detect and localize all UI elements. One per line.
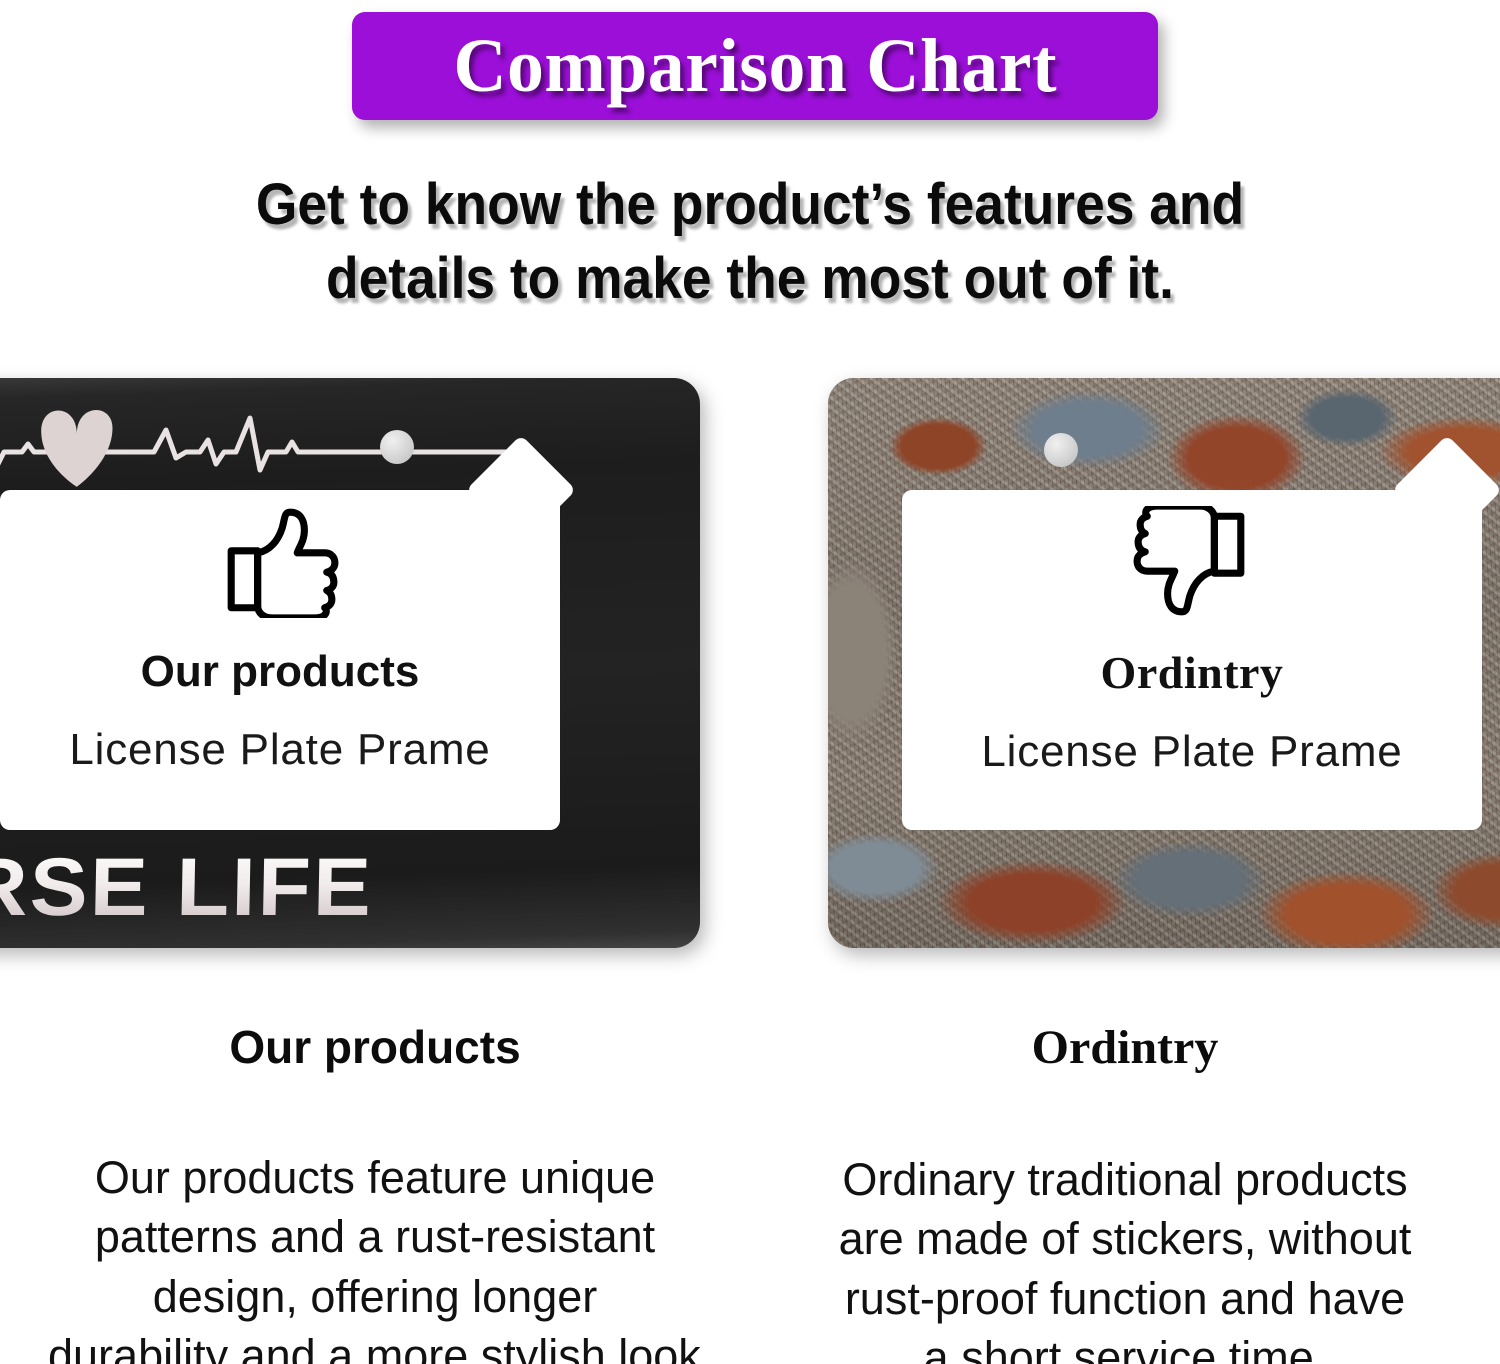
summary-line: a short service time.	[798, 1328, 1452, 1364]
summary-line: patterns and a rust-resistant	[48, 1207, 702, 1266]
summary-column-ordintry: Ordintry Ordinary traditional products a…	[750, 1024, 1500, 1364]
mounting-screw-hole	[380, 430, 414, 464]
summary-line: durability and a more stylish look.	[48, 1326, 702, 1364]
comparison-summary-section: Our products Our products feature unique…	[0, 1024, 1500, 1364]
summary-line: Ordinary traditional products	[798, 1150, 1452, 1209]
our-products-summary-title: Our products	[0, 1024, 750, 1070]
ordinary-product-name: License Plate Prame	[981, 730, 1402, 774]
our-product-plate-content: Our products License Plate Prame	[0, 490, 560, 830]
ordinary-product-plate-content-wrap: Ordintry License Plate Prame	[902, 490, 1482, 830]
our-product-brand-label: Our products	[141, 650, 420, 694]
ordinary-product-brand-label: Ordintry	[1101, 650, 1284, 696]
thumbs-down-icon	[1131, 506, 1253, 618]
our-products-summary-description: Our products feature unique patterns and…	[0, 1148, 750, 1364]
mounting-screw-hole	[1044, 433, 1078, 467]
summary-line: design, offering longer	[48, 1267, 702, 1326]
summary-line: rust-proof function and have	[798, 1269, 1452, 1328]
our-product-license-plate-frame: Our products License Plate Prame URSE LI…	[0, 378, 700, 948]
our-product-name: License Plate Prame	[69, 728, 490, 772]
summary-line: Our products feature unique	[48, 1148, 702, 1207]
ordintry-summary-description: Ordinary traditional products are made o…	[750, 1150, 1500, 1364]
comparison-chart-page: Comparison Chart Get to know the product…	[0, 0, 1500, 1364]
ordinary-product-plate-content: Ordintry License Plate Prame	[902, 490, 1482, 830]
ordinary-product-license-plate-frame: Ordintry License Plate Prame	[828, 378, 1500, 948]
summary-column-our-products: Our products Our products feature unique…	[0, 1024, 750, 1364]
thumbs-up-icon	[219, 506, 341, 618]
our-product-plate-content-wrap: Our products License Plate Prame	[0, 490, 560, 830]
ordintry-summary-title: Ordintry	[750, 1024, 1500, 1072]
summary-columns: Our products Our products feature unique…	[0, 1024, 1500, 1364]
plate-slogan-text: URSE LIFE	[0, 840, 494, 936]
summary-line: are made of stickers, without	[798, 1209, 1452, 1268]
